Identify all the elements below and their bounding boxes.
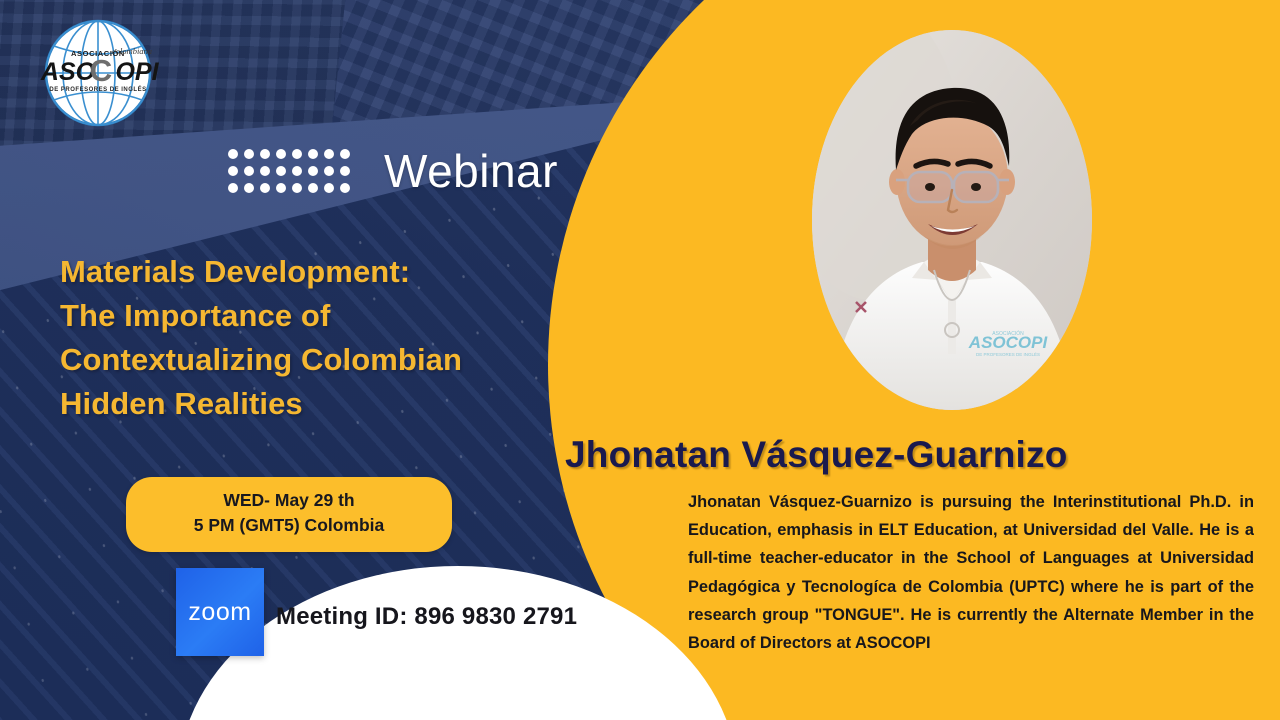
- meeting-id-text: Meeting ID: 896 9830 2791: [276, 603, 577, 631]
- speaker-portrait-illustration: ASOCOPI ASOCIACIÓN DE PROFESORES DE INGL…: [812, 30, 1092, 410]
- logo-top-right-text: colombiana: [112, 46, 152, 56]
- webinar-label: Webinar: [384, 148, 558, 194]
- date-badge-line-1: WED- May 29 th: [126, 488, 452, 513]
- date-badge-line-2: 5 PM (GMT5) Colombia: [126, 513, 452, 538]
- webinar-poster: ASOCIACIÓN colombiana ASO C OPI DE PROFE…: [0, 0, 1280, 720]
- webinar-header: Webinar: [228, 148, 558, 194]
- speaker-name: Jhonatan Vásquez-Guarnizo: [565, 434, 1068, 476]
- svg-text:ASOCIACIÓN: ASOCIACIÓN: [992, 330, 1024, 337]
- title-line-4: Hidden Realities: [60, 382, 580, 426]
- logo-bottom-text: DE PROFESORES DE INGLÉS: [49, 85, 146, 93]
- svg-text:DE PROFESORES DE INGLÉS: DE PROFESORES DE INGLÉS: [976, 351, 1040, 357]
- title-line-1: Materials Development:: [60, 250, 580, 294]
- logo-main-text-2: OPI: [115, 58, 159, 86]
- speaker-bio: Jhonatan Vásquez-Guarnizo is pursuing th…: [688, 488, 1254, 657]
- dot-grid-decoration: [228, 149, 350, 193]
- page-title: Materials Development: The Importance of…: [60, 250, 580, 426]
- zoom-logo-label: zoom: [188, 598, 251, 627]
- logo-main-text: ASO: [40, 58, 96, 86]
- date-time-badge: WED- May 29 th 5 PM (GMT5) Colombia: [126, 477, 452, 552]
- speaker-photo: ASOCOPI ASOCIACIÓN DE PROFESORES DE INGL…: [812, 30, 1092, 410]
- title-line-3: Contextualizing Colombian: [60, 338, 580, 382]
- logo-highlight-letter: C: [90, 53, 112, 88]
- zoom-logo: zoom: [176, 568, 264, 656]
- title-line-2: The Importance of: [60, 294, 580, 338]
- asocopi-logo: ASOCIACIÓN colombiana ASO C OPI DE PROFE…: [24, 18, 172, 128]
